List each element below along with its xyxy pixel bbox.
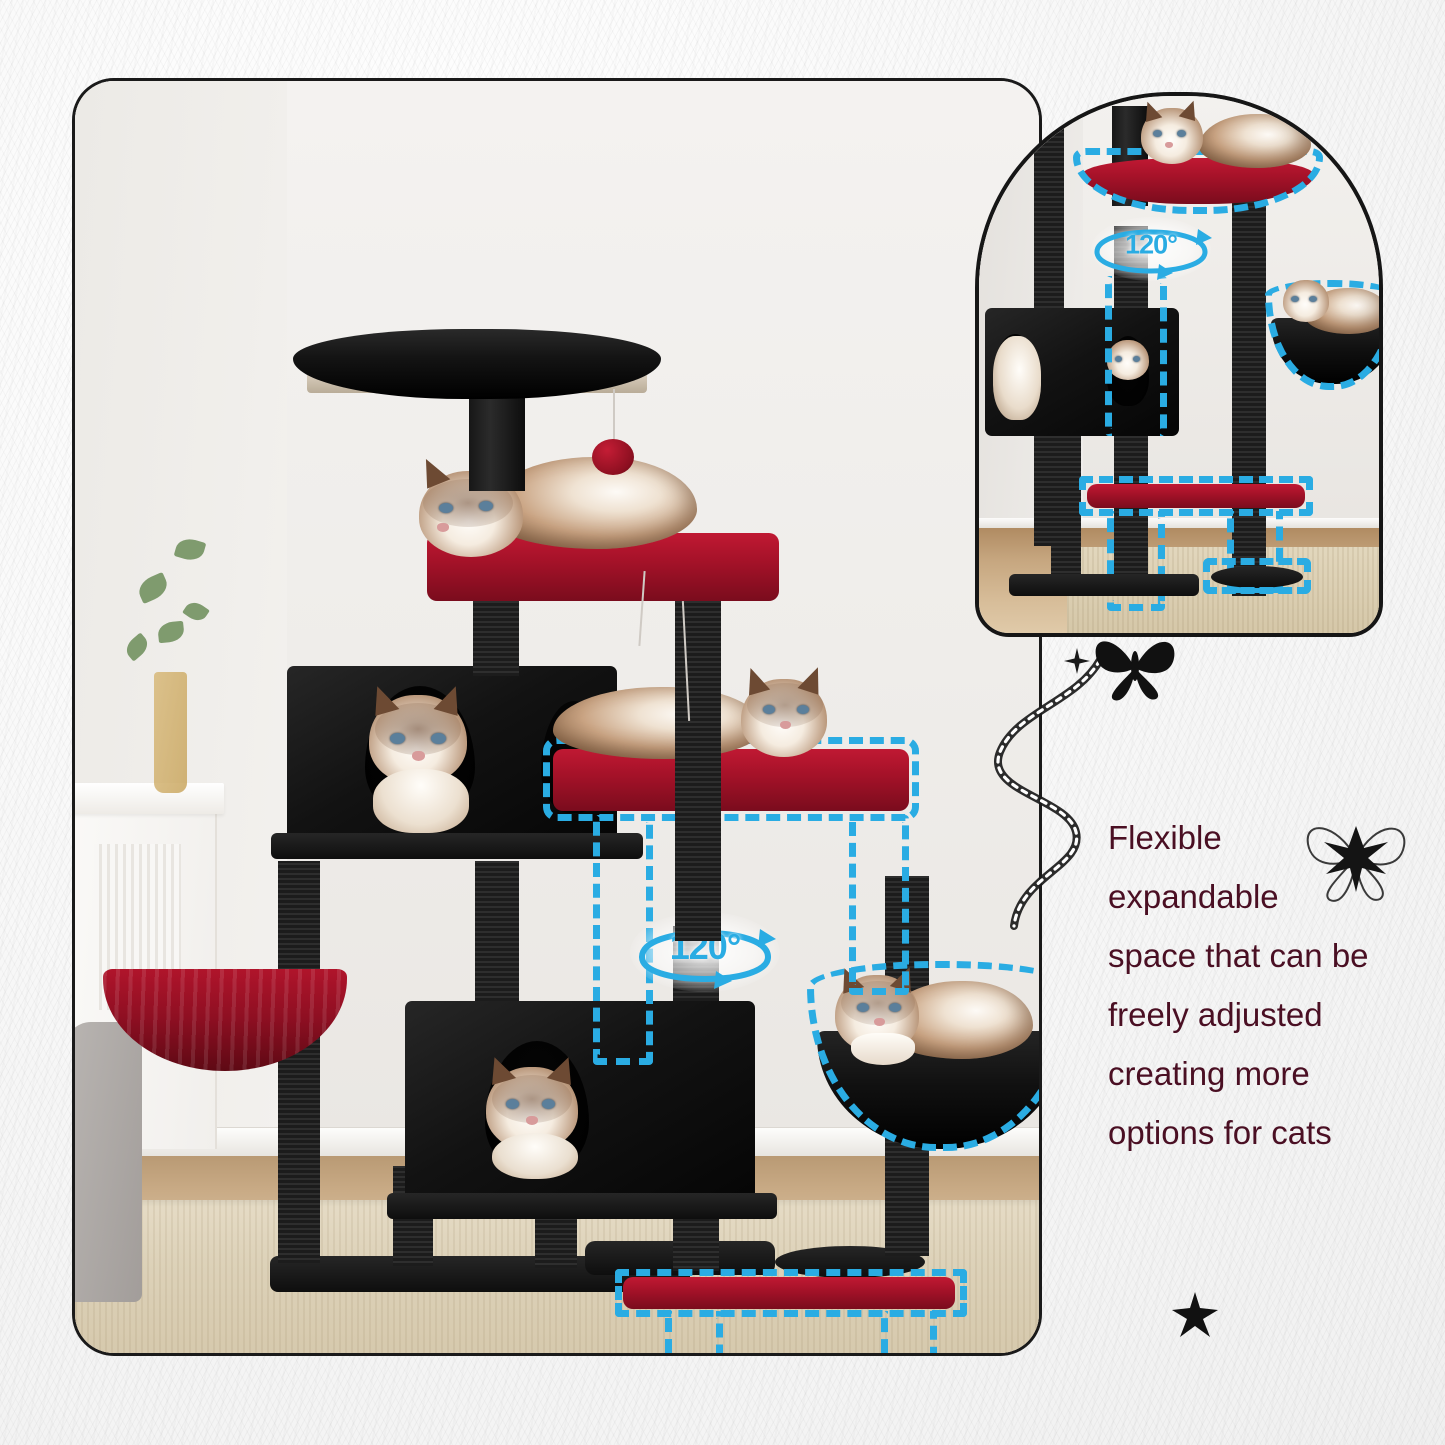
cat-eye-right [1309,296,1317,302]
cat-eye-left [390,733,405,744]
inset-base-board [1009,574,1199,596]
pompom-string [613,389,615,443]
inset-rotation-degrees-label: 120° [1125,229,1177,260]
inset-closeup-panel: 120° [975,92,1383,637]
sparkle-star-bottom-icon [1172,1292,1218,1338]
upper-condo-floor [271,833,643,859]
cat-eye-left [763,705,775,714]
cat-in-upper-condo [363,693,483,835]
cat-chest-fur [373,769,469,833]
description-line: options for cats [1108,1103,1428,1162]
cat-nose [1165,142,1173,148]
cat-eye-left [1153,130,1162,137]
cat-face-mask [375,703,461,755]
description-line: Flexible [1108,808,1428,867]
inset-post-right [1232,196,1266,596]
plant-vase [154,672,187,793]
cat-eye-right [431,733,446,744]
mantel-shelf [72,783,224,814]
scratching-post-left [278,861,320,1263]
cat-eye-left [439,503,453,513]
dangling-pompom-toy [592,439,634,475]
cat-eye-right [889,1003,901,1012]
cat-fur [993,336,1041,420]
main-product-photo-panel: 120° [72,78,1042,1356]
cat-on-top-platform [405,449,705,553]
cat-nose [780,721,791,729]
description-text-block: Flexible expandable space that can be fr… [1108,808,1428,1162]
cat-in-black-hammock [835,971,1035,1067]
cat-eye-right [797,705,809,714]
cat-chest-fur [492,1133,578,1179]
cat-eye-right [1177,130,1186,137]
cat-body [553,687,763,759]
cat-nose [437,523,449,532]
cat-nose [412,751,425,761]
description-line: expandable [1108,867,1428,926]
cat-in-lower-condo [478,1061,594,1177]
cat-body [1199,114,1311,168]
cat-nose [874,1018,885,1026]
inset-cat-in-condo-right [1105,340,1151,420]
cat-eye-right [1133,356,1140,362]
lower-condo-floor [387,1193,777,1219]
cat-head [1283,280,1329,322]
inset-post-foot [1211,566,1303,588]
red-platform-bottom-plate [623,1277,955,1309]
sofa-armchair [72,1022,142,1302]
cat-eye-left [857,1003,869,1012]
cat-eye-left [1115,356,1122,362]
upper-post-right [675,581,721,941]
inset-post-left-inner [1051,426,1081,596]
cat-eye-right [542,1099,555,1109]
cat-eye-right [479,501,493,511]
inset-red-platform-lower [1087,484,1305,508]
cat-eye-left [1291,296,1299,302]
inset-cat-in-condo-left [993,336,1041,420]
cat-eye-left [506,1099,519,1109]
inset-cat-in-hammock [1277,280,1383,336]
description-line: space that can be [1108,926,1428,985]
cat-paws [851,1033,915,1065]
cat-nose [526,1116,538,1125]
inset-rotation-badge: 120° [1081,214,1221,284]
description-line: freely adjusted [1108,985,1428,1044]
sparkle-star-small-icon [1064,648,1090,674]
butterfly-solid-icon [1090,630,1180,702]
inset-cat-top [1137,106,1307,168]
cat-chest-fur [1107,374,1149,420]
description-line: creating more [1108,1044,1428,1103]
